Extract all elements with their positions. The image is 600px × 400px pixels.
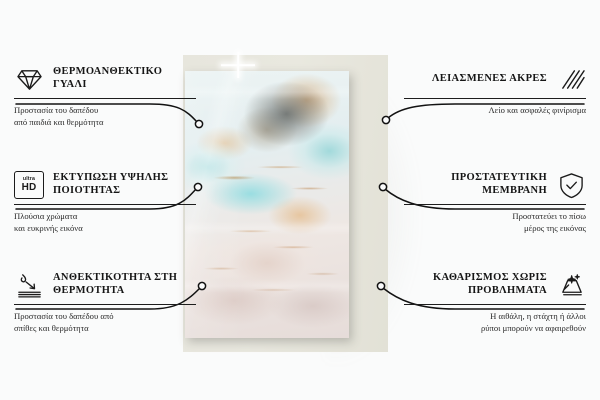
feature-header: ΛΕΙΑΣΜΕΝΕΣ ΑΚΡΕΣ bbox=[404, 64, 586, 94]
feature-header: ΠΡΟΣΤΑΤΕΥΤΙΚΗ ΜΕΜΒΡΑΝΗ bbox=[404, 170, 586, 200]
feature-header: ultra HD ΕΚΤΥΠΩΣΗ ΥΨΗΛΗΣ ΠΟΙΟΤΗΤΑΣ bbox=[14, 170, 196, 200]
easy-cleaning-icon bbox=[556, 270, 586, 300]
feature-description: Η αιθάλη, η στάχτη ή άλλοι ρύποι μπορούν… bbox=[404, 310, 586, 334]
shield-check-icon bbox=[556, 170, 586, 200]
feature-divider bbox=[404, 98, 586, 99]
feature-desc-line-2: από παιδιά και θερμότητα bbox=[14, 116, 196, 128]
feature-desc-line-1: Λείο και ασφαλές φινίρισμα bbox=[404, 104, 586, 116]
feature-title: ΘΕΡΜΟΑΝΘΕΚΤΙΚΟ ΓΥΑΛΙ bbox=[53, 66, 196, 92]
feature-title: ΛΕΙΑΣΜΕΝΕΣ ΑΚΡΕΣ bbox=[404, 73, 547, 86]
feature-desc-line-2: σπίθες και θερμότητα bbox=[14, 322, 196, 334]
infographic-canvas: ΘΕΡΜΟΑΝΘΕΚΤΙΚΟ ΓΥΑΛΙ Προστασία του δαπέδ… bbox=[0, 0, 600, 400]
feature-high-quality-print[interactable]: ultra HD ΕΚΤΥΠΩΣΗ ΥΨΗΛΗΣ ΠΟΙΟΤΗΤΑΣ Πλούσ… bbox=[14, 170, 196, 234]
polished-edges-icon bbox=[556, 64, 586, 94]
feature-title: ΑΝΘΕΚΤΙΚΟΤΗΤΑ ΣΤΗ ΘΕΡΜΟΤΗΤΑ bbox=[53, 272, 196, 298]
ultra-hd-icon-bottom-label: HD bbox=[22, 183, 37, 193]
glass-print-panel bbox=[185, 71, 349, 338]
feature-divider bbox=[404, 204, 586, 205]
feature-header: ΚΑΘΑΡΙΣΜΟΣ ΧΩΡΙΣ ΠΡΟΒΛΗΜΑΤΑ bbox=[404, 270, 586, 300]
feature-divider bbox=[14, 304, 196, 305]
feature-divider bbox=[14, 98, 196, 99]
heat-resistance-icon bbox=[14, 270, 44, 300]
feature-desc-line-1: Προστασία του δαπέδου από bbox=[14, 310, 196, 322]
feature-desc-line-1: Πλούσια χρώματα bbox=[14, 210, 196, 222]
ultra-hd-icon: ultra HD bbox=[14, 170, 44, 200]
feature-description: Προστατεύει το πίσω μέρος της εικόνας bbox=[404, 210, 586, 234]
feature-heat-resistant-glass[interactable]: ΘΕΡΜΟΑΝΘΕΚΤΙΚΟ ΓΥΑΛΙ Προστασία του δαπέδ… bbox=[14, 64, 196, 128]
feature-divider bbox=[14, 204, 196, 205]
product-image-area bbox=[175, 55, 388, 355]
diamond-icon bbox=[14, 64, 44, 94]
feature-protective-membrane[interactable]: ΠΡΟΣΤΑΤΕΥΤΙΚΗ ΜΕΜΒΡΑΝΗ Προστατεύει το πί… bbox=[404, 170, 586, 234]
feature-title: ΚΑΘΑΡΙΣΜΟΣ ΧΩΡΙΣ ΠΡΟΒΛΗΜΑΤΑ bbox=[404, 272, 547, 298]
gold-vein-overlay bbox=[185, 71, 349, 338]
feature-title: ΠΡΟΣΤΑΤΕΥΤΙΚΗ ΜΕΜΒΡΑΝΗ bbox=[404, 172, 547, 198]
feature-desc-line-1: Η αιθάλη, η στάχτη ή άλλοι bbox=[404, 310, 586, 322]
feature-header: ΑΝΘΕΚΤΙΚΟΤΗΤΑ ΣΤΗ ΘΕΡΜΟΤΗΤΑ bbox=[14, 270, 196, 300]
feature-desc-line-2: και ευκρινής εικόνα bbox=[14, 222, 196, 234]
feature-description: Προστασία του δαπέδου από παιδιά και θερ… bbox=[14, 104, 196, 128]
feature-easy-cleaning[interactable]: ΚΑΘΑΡΙΣΜΟΣ ΧΩΡΙΣ ΠΡΟΒΛΗΜΑΤΑ Η αιθάλη, η … bbox=[404, 270, 586, 334]
feature-divider bbox=[404, 304, 586, 305]
feature-desc-line-1: Προστασία του δαπέδου bbox=[14, 104, 196, 116]
feature-heat-resistance[interactable]: ΑΝΘΕΚΤΙΚΟΤΗΤΑ ΣΤΗ ΘΕΡΜΟΤΗΤΑ Προστασία το… bbox=[14, 270, 196, 334]
feature-description: Λείο και ασφαλές φινίρισμα bbox=[404, 104, 586, 116]
feature-description: Πλούσια χρώματα και ευκρινής εικόνα bbox=[14, 210, 196, 234]
feature-title: ΕΚΤΥΠΩΣΗ ΥΨΗΛΗΣ ΠΟΙΟΤΗΤΑΣ bbox=[53, 172, 196, 198]
feature-desc-line-1: Προστατεύει το πίσω bbox=[404, 210, 586, 222]
feature-polished-edges[interactable]: ΛΕΙΑΣΜΕΝΕΣ ΑΚΡΕΣ Λείο και ασφαλές φινίρι… bbox=[404, 64, 586, 116]
feature-header: ΘΕΡΜΟΑΝΘΕΚΤΙΚΟ ΓΥΑΛΙ bbox=[14, 64, 196, 94]
feature-desc-line-2: ρύποι μπορούν να αφαιρεθούν bbox=[404, 322, 586, 334]
feature-description: Προστασία του δαπέδου από σπίθες και θερ… bbox=[14, 310, 196, 334]
feature-desc-line-2: μέρος της εικόνας bbox=[404, 222, 586, 234]
